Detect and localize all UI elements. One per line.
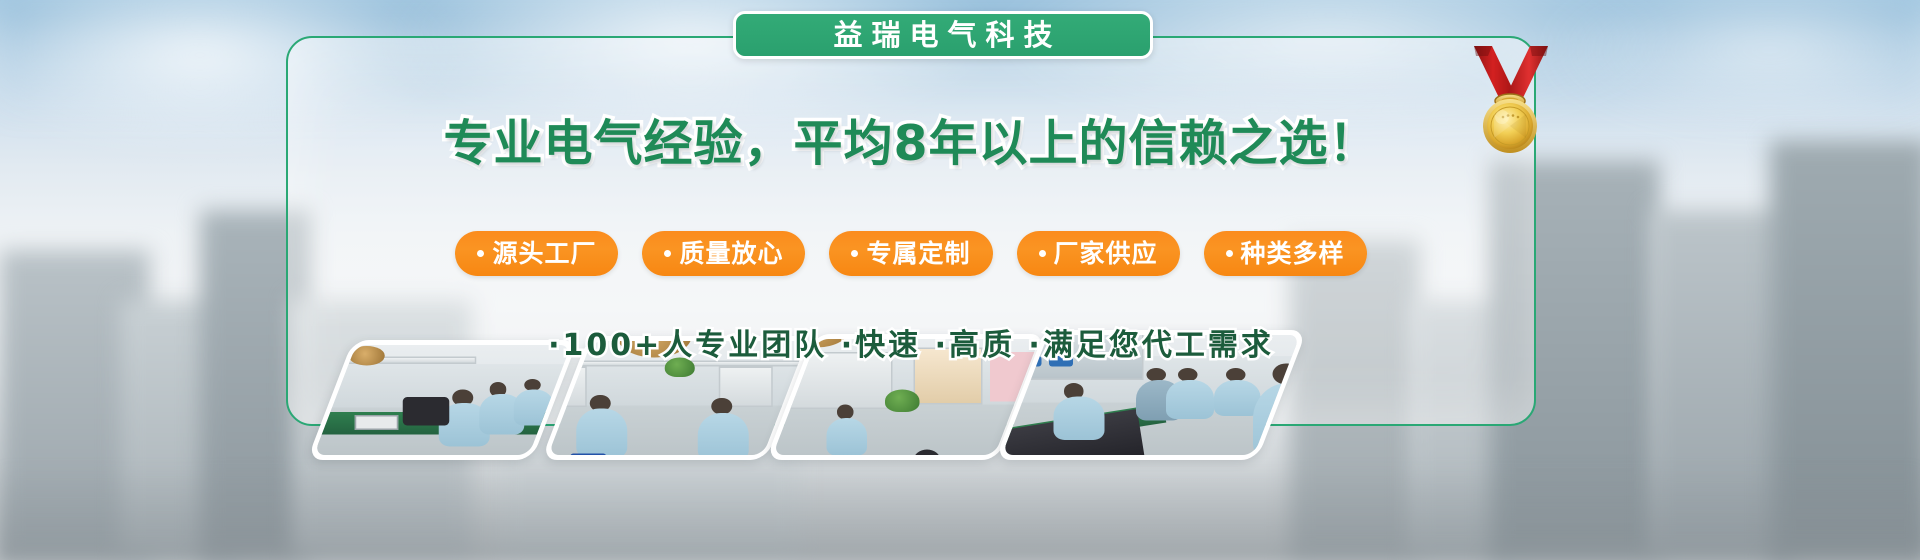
- feature-pill-label: 厂家供应: [1054, 241, 1158, 266]
- feature-pill[interactable]: 种类多样: [1204, 231, 1367, 276]
- feature-pill-label: 质量放心: [679, 241, 783, 266]
- bullet-dot-icon: [477, 250, 484, 257]
- headline-text: 专业电气经验，平均8年以上的信赖之选！: [443, 115, 1378, 172]
- feature-pill-list: 源头工厂 质量放心 专属定制 厂家供应 种类多样: [286, 231, 1536, 276]
- bullet-dot-icon: [1039, 250, 1046, 257]
- promo-banner: 益瑞电气科技: [0, 0, 1920, 560]
- bullet-dot-icon: [1226, 250, 1233, 257]
- factory-photo-strip: [0, 330, 1920, 560]
- feature-pill[interactable]: 厂家供应: [1017, 231, 1180, 276]
- feature-pill-label: 源头工厂: [492, 241, 596, 266]
- brand-badge: 益瑞电气科技: [733, 11, 1153, 59]
- bullet-dot-icon: [664, 250, 671, 257]
- feature-pill[interactable]: 源头工厂: [455, 231, 618, 276]
- feature-pill-label: 种类多样: [1241, 241, 1345, 266]
- brand-badge-label: 益瑞电气科技: [824, 21, 1061, 50]
- bullet-dot-icon: [851, 250, 858, 257]
- feature-pill[interactable]: 专属定制: [829, 231, 992, 276]
- feature-pill[interactable]: 质量放心: [642, 231, 805, 276]
- subtitle-text: ·100+人专业团队 ·快速 ·高质 ·满足您代工需求: [548, 328, 1274, 363]
- feature-pill-label: 专属定制: [866, 241, 970, 266]
- gold-medal-icon: [1458, 44, 1563, 159]
- headline: 专业电气经验，平均8年以上的信赖之选！: [286, 104, 1536, 175]
- subtitle: ·100+人专业团队 ·快速 ·高质 ·满足您代工需求: [286, 320, 1536, 364]
